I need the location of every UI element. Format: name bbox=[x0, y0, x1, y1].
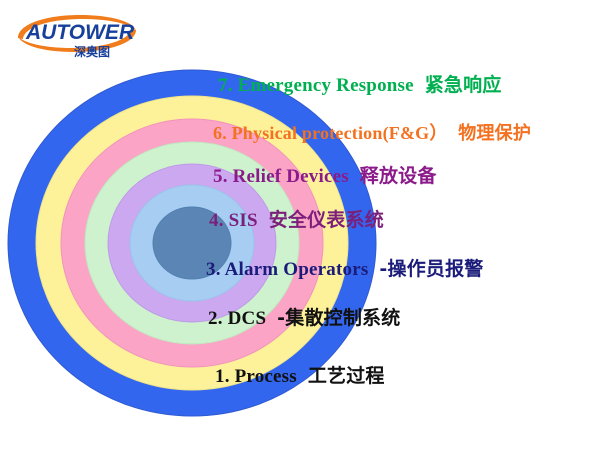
layer-1-en: Process bbox=[235, 366, 297, 387]
layer-6-number: 6. bbox=[213, 123, 227, 143]
layer-2-en: DCS bbox=[228, 308, 267, 329]
layer-label-4: 4. SIS 安全仪表系统 bbox=[209, 211, 384, 230]
layer-5-number: 5. bbox=[213, 166, 228, 187]
concentric-ellipses bbox=[0, 0, 600, 464]
layer-5-en: Relief Devices bbox=[233, 166, 349, 187]
layer-5-cn: 释放设备 bbox=[354, 165, 437, 187]
layer-4-en: SIS bbox=[229, 210, 258, 231]
layer-4-cn: 安全仪表系统 bbox=[263, 209, 384, 231]
layer-3-en: Alarm Operators bbox=[225, 259, 369, 280]
layer-label-7: 7. Emergency Response 紧急响应 bbox=[218, 76, 502, 95]
layer-7-number: 7. bbox=[218, 75, 233, 96]
layer-7-en: Emergency Response bbox=[238, 75, 414, 96]
layer-label-5: 5. Relief Devices 释放设备 bbox=[213, 167, 437, 186]
layer-1-cn: 工艺过程 bbox=[302, 365, 385, 387]
layer-3-number: 3. bbox=[206, 259, 221, 280]
layers-of-protection-diagram: 7. Emergency Response 紧急响应 6. Physical p… bbox=[0, 0, 600, 464]
layer-2-cn: -集散控制系统 bbox=[271, 307, 400, 329]
layer-label-1: 1. Process 工艺过程 bbox=[215, 367, 385, 386]
layer-1-number: 1. bbox=[215, 366, 230, 387]
layer-6-en: Physical protection(F&G） bbox=[232, 123, 448, 143]
layer-label-2: 2. DCS -集散控制系统 bbox=[208, 309, 400, 328]
layer-label-3: 3. Alarm Operators -操作员报警 bbox=[206, 260, 484, 279]
layer-6-cn: 物理保护 bbox=[452, 123, 531, 144]
layer-4-number: 4. bbox=[209, 210, 224, 231]
layer-7-cn: 紧急响应 bbox=[419, 74, 502, 96]
layer-3-cn: -操作员报警 bbox=[373, 258, 483, 280]
layer-2-number: 2. bbox=[208, 308, 223, 329]
layer-label-6: 6. Physical protection(F&G） 物理保护 bbox=[213, 124, 531, 143]
